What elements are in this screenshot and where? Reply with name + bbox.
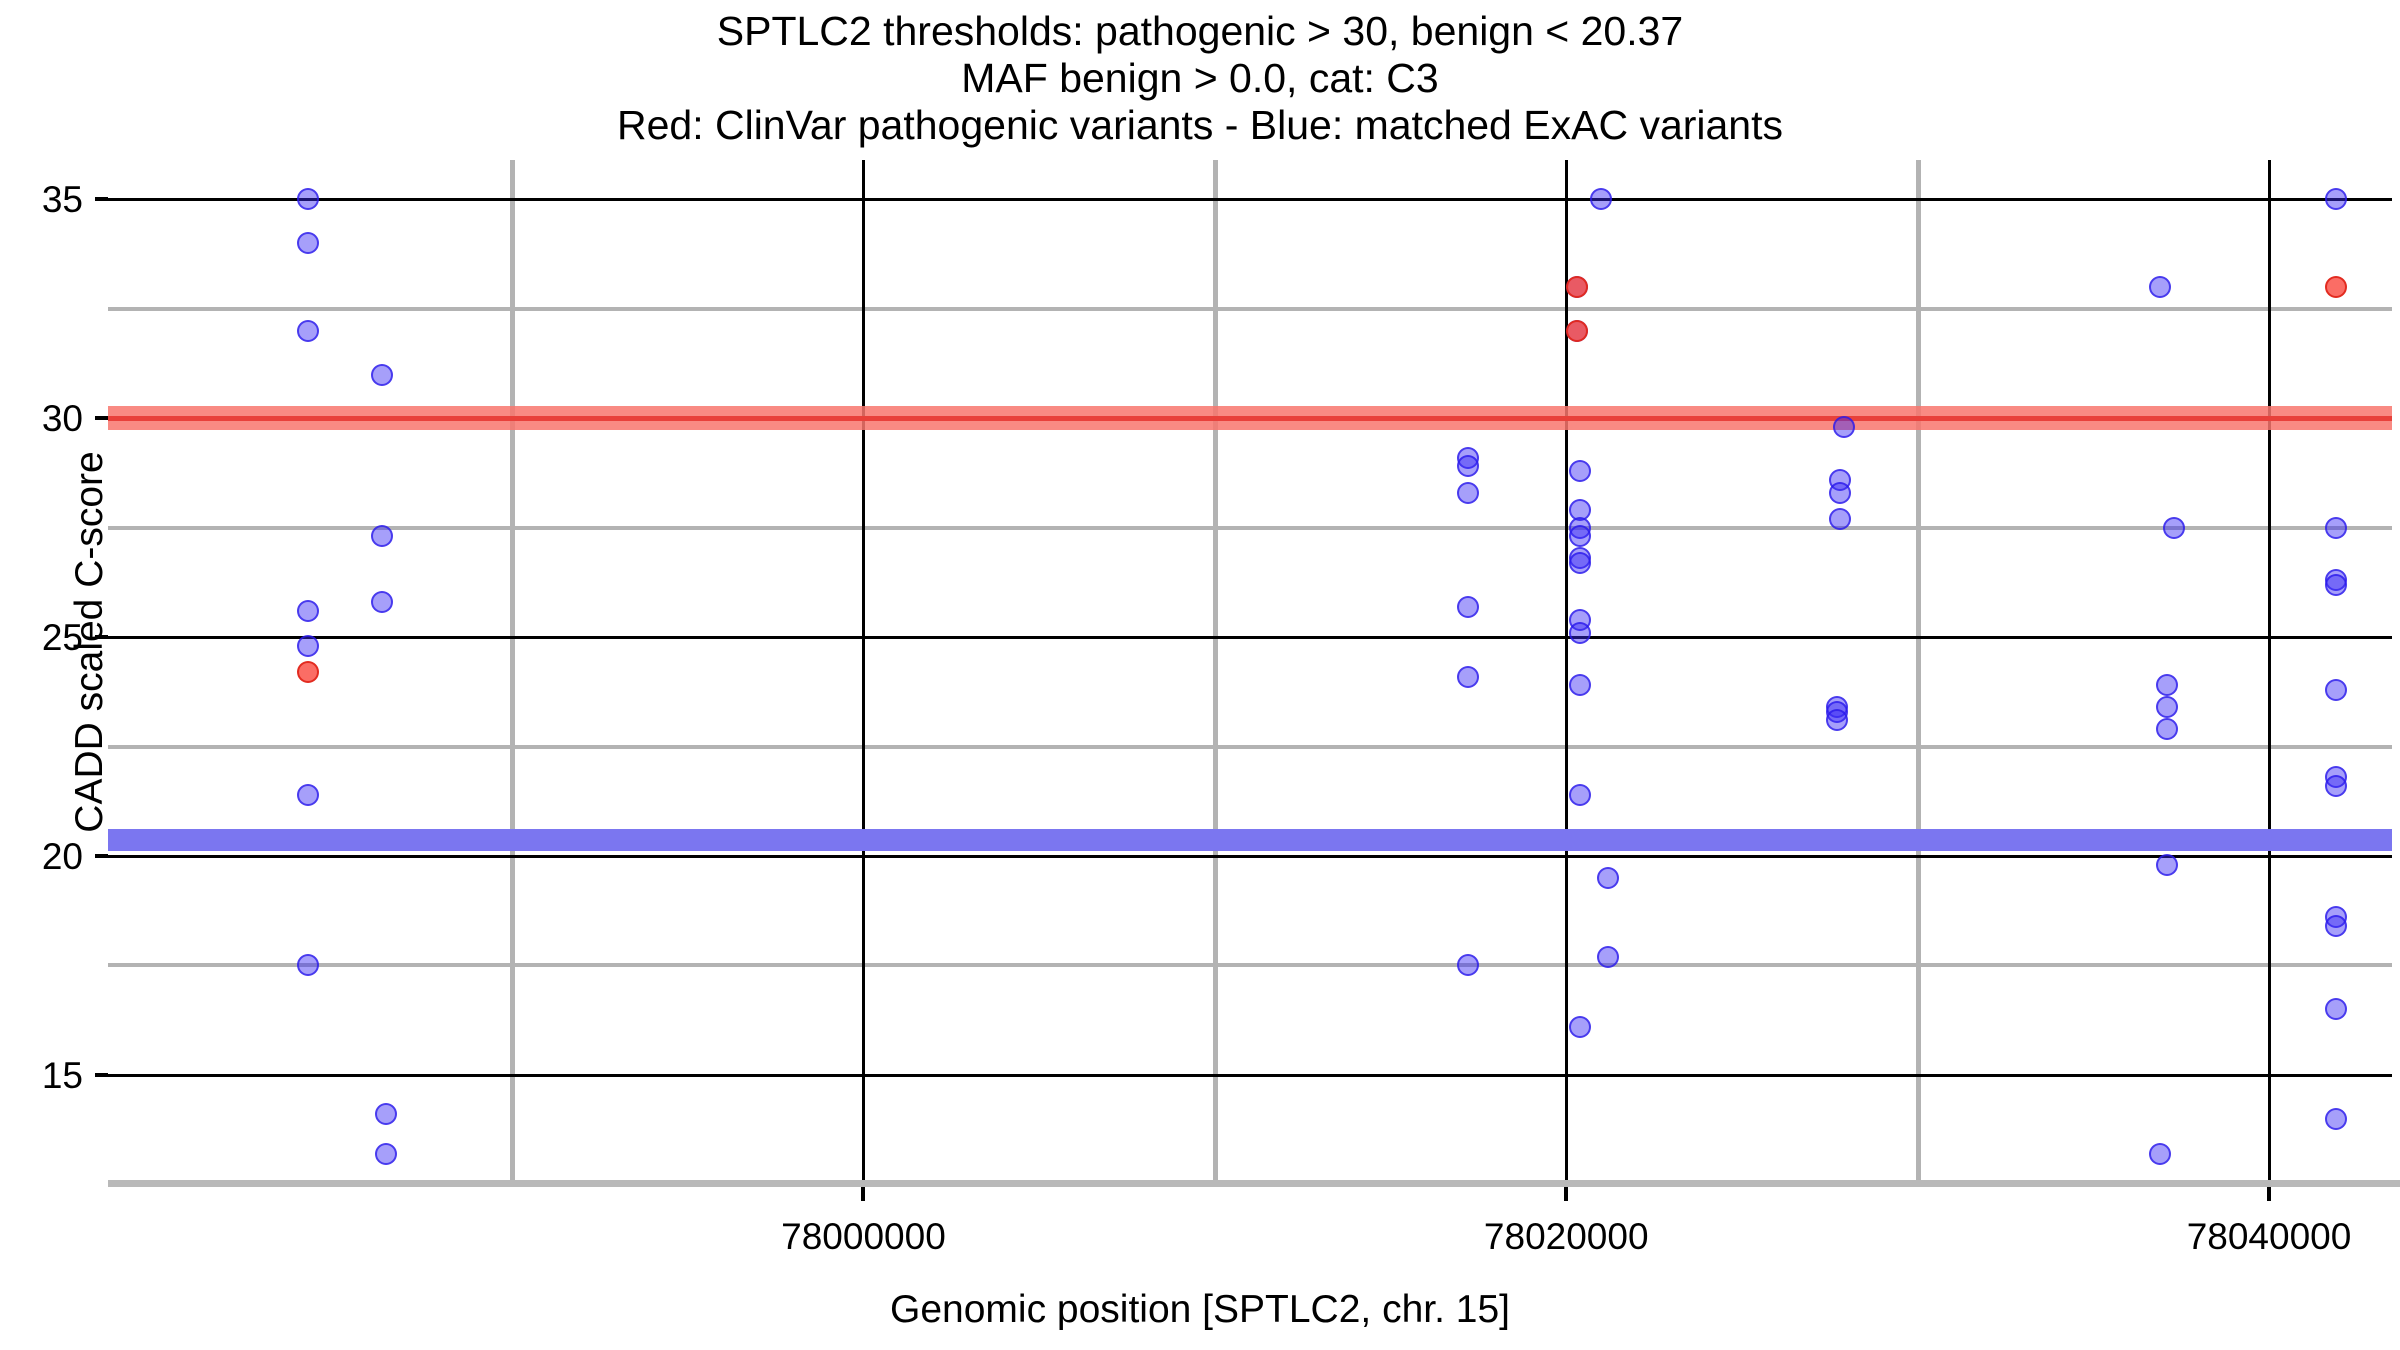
data-point-exac: [2325, 915, 2347, 937]
data-point-pathogenic: [2325, 276, 2347, 298]
data-point-exac: [297, 784, 319, 806]
data-point-exac: [2149, 276, 2171, 298]
data-point-exac: [2156, 718, 2178, 740]
data-point-exac: [1569, 674, 1591, 696]
data-point-exac: [1597, 946, 1619, 968]
data-point-exac: [1590, 188, 1612, 210]
data-point-exac: [2325, 679, 2347, 701]
gridline-minor-y: [108, 963, 2392, 967]
data-point-exac: [375, 1143, 397, 1165]
gridline-minor-x: [1916, 160, 1921, 1180]
data-point-exac: [2156, 674, 2178, 696]
y-tick-label: 30: [0, 400, 83, 437]
x-tick-mark: [2267, 1187, 2271, 1201]
y-tick-label: 20: [0, 838, 83, 875]
data-point-exac: [1457, 482, 1479, 504]
chart-root: SPTLC2 thresholds: pathogenic > 30, beni…: [0, 0, 2400, 1350]
data-point-exac: [297, 600, 319, 622]
y-tick-mark: [95, 635, 108, 639]
pathogenic-threshold-line: [108, 416, 2392, 421]
chart-title-line-2: MAF benign > 0.0, cat: C3: [0, 55, 2400, 102]
data-point-exac: [1833, 416, 1855, 438]
gridline-major-y: [108, 636, 2392, 639]
data-point-exac: [1826, 709, 1848, 731]
data-point-exac: [2325, 1108, 2347, 1130]
data-point-exac: [1457, 596, 1479, 618]
y-tick-label: 25: [0, 619, 83, 656]
data-point-exac: [297, 188, 319, 210]
y-tick-label: 35: [0, 181, 83, 218]
gridline-major-y: [108, 198, 2392, 201]
gridline-major-x: [862, 160, 865, 1180]
data-point-exac: [1569, 460, 1591, 482]
x-tick-mark: [861, 1187, 865, 1201]
data-point-exac: [1457, 455, 1479, 477]
data-point-exac: [1569, 784, 1591, 806]
x-tick-label: 78000000: [703, 1218, 1023, 1255]
gridline-minor-x: [510, 160, 515, 1180]
data-point-exac: [297, 232, 319, 254]
data-point-exac: [297, 954, 319, 976]
data-point-pathogenic: [297, 661, 319, 683]
data-point-exac: [1569, 552, 1591, 574]
y-tick-mark: [95, 197, 108, 201]
benign-threshold-band: [108, 829, 2392, 851]
gridline-minor-x: [1213, 160, 1218, 1180]
data-point-exac: [1569, 622, 1591, 644]
gridline-major-y: [108, 1074, 2392, 1077]
x-tick-label: 78020000: [1406, 1218, 1726, 1255]
gridline-major-x: [2268, 160, 2271, 1180]
x-tick-label: 78040000: [2109, 1218, 2400, 1255]
gridline-major-x: [1565, 160, 1568, 1180]
x-tick-mark: [1564, 1187, 1568, 1201]
data-point-exac: [371, 591, 393, 613]
data-point-exac: [2325, 574, 2347, 596]
y-tick-mark: [95, 1073, 108, 1077]
data-point-exac: [2325, 188, 2347, 210]
data-point-exac: [297, 635, 319, 657]
gridline-minor-y: [108, 307, 2392, 311]
data-point-exac: [2325, 998, 2347, 1020]
gridline-minor-y: [108, 526, 2392, 530]
data-point-exac: [2325, 517, 2347, 539]
data-point-exac: [371, 364, 393, 386]
data-point-exac: [1829, 482, 1851, 504]
chart-title-line-1: SPTLC2 thresholds: pathogenic > 30, beni…: [0, 8, 2400, 55]
gridline-minor-y: [108, 745, 2392, 749]
data-point-exac: [2325, 775, 2347, 797]
data-point-exac: [371, 525, 393, 547]
data-point-pathogenic: [1566, 276, 1588, 298]
data-point-pathogenic: [1566, 320, 1588, 342]
y-tick-mark: [95, 854, 108, 858]
data-point-exac: [2149, 1143, 2171, 1165]
data-point-exac: [2156, 854, 2178, 876]
chart-title-line-3: Red: ClinVar pathogenic variants - Blue:…: [0, 102, 2400, 149]
y-tick-mark: [95, 416, 108, 420]
data-point-exac: [1457, 666, 1479, 688]
x-axis-title: Genomic position [SPTLC2, chr. 15]: [0, 1288, 2400, 1332]
data-point-exac: [2156, 696, 2178, 718]
plot-panel: [108, 160, 2392, 1180]
y-tick-label: 15: [0, 1057, 83, 1094]
chart-title: SPTLC2 thresholds: pathogenic > 30, beni…: [0, 8, 2400, 149]
x-axis-line: [108, 1180, 2400, 1187]
data-point-exac: [1597, 867, 1619, 889]
data-point-exac: [1457, 954, 1479, 976]
gridline-major-y: [108, 855, 2392, 858]
data-point-exac: [1569, 525, 1591, 547]
data-point-exac: [297, 320, 319, 342]
data-point-exac: [375, 1103, 397, 1125]
data-point-exac: [1569, 1016, 1591, 1038]
data-point-exac: [2163, 517, 2185, 539]
